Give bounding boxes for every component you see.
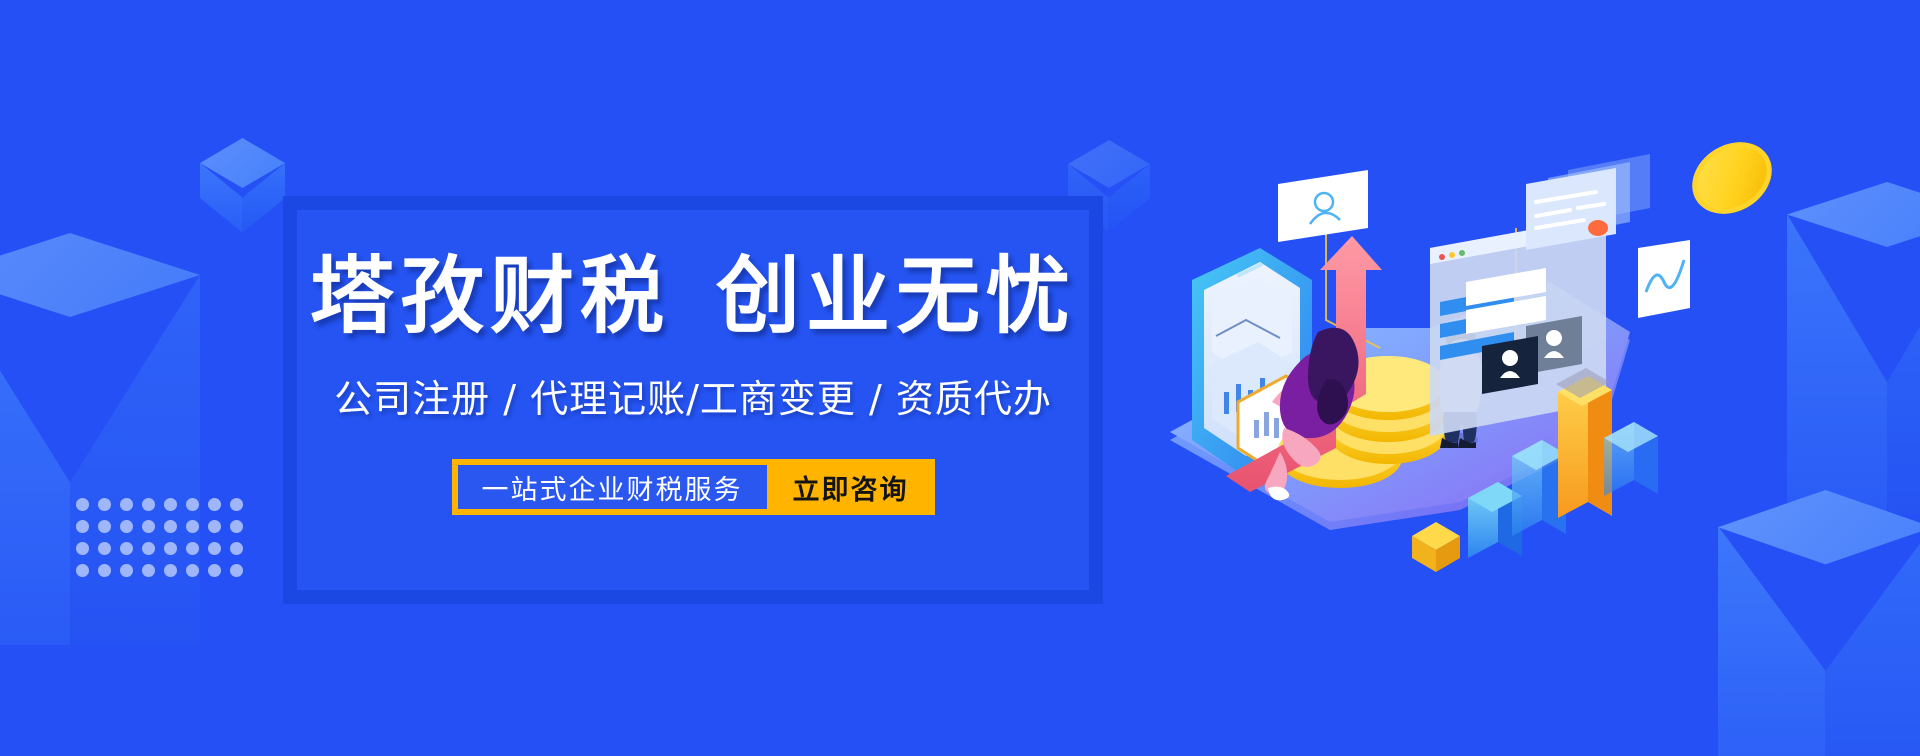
- dot: [98, 520, 111, 533]
- dot: [208, 542, 221, 555]
- dot-grid-decoration: [76, 498, 252, 586]
- dot: [164, 564, 177, 577]
- headline-frame-inner: 塔孜财税创业无忧 公司注册 / 代理记账/工商变更 / 资质代办 一站式企业财税…: [297, 210, 1089, 590]
- dot: [76, 520, 89, 533]
- gold-cube-decoration: [1412, 522, 1460, 572]
- prism-left-face: [1718, 526, 1826, 756]
- dot: [230, 542, 243, 555]
- dot: [120, 564, 133, 577]
- headline-part-1: 塔孜财税: [310, 247, 670, 345]
- dot: [164, 542, 177, 555]
- prism-right-face: [1887, 214, 1920, 514]
- dot: [142, 542, 155, 555]
- dot: [120, 498, 133, 511]
- dot: [76, 564, 89, 577]
- prism-right-face: [1825, 526, 1920, 756]
- dot: [142, 520, 155, 533]
- cube-top-face: [200, 138, 285, 188]
- headline-frame: 塔孜财税创业无忧 公司注册 / 代理记账/工商变更 / 资质代办 一站式企业财税…: [283, 196, 1103, 604]
- dot: [186, 498, 199, 511]
- promo-banner: 塔孜财税创业无忧 公司注册 / 代理记账/工商变更 / 资质代办 一站式企业财税…: [0, 0, 1920, 756]
- cube-right-face: [242, 163, 285, 233]
- dot: [98, 564, 111, 577]
- dot: [142, 564, 155, 577]
- dot: [98, 542, 111, 555]
- prism-left-face: [1787, 214, 1887, 514]
- prism-right-lower-decoration: [1718, 490, 1920, 756]
- cube-top-left-decoration: [200, 138, 285, 233]
- coin-face: [1679, 128, 1785, 228]
- headline-part-2: 创业无忧: [716, 247, 1076, 345]
- dot: [120, 520, 133, 533]
- dot: [120, 542, 133, 555]
- prism-top-face: [1718, 490, 1920, 614]
- prism-top-face: [0, 233, 200, 383]
- prism-left-decoration: [0, 233, 200, 653]
- prism-right-face: [70, 275, 200, 645]
- headline-content: 塔孜财税创业无忧 公司注册 / 代理记账/工商变更 / 资质代办 一站式企业财税…: [297, 210, 1089, 590]
- dot: [164, 520, 177, 533]
- dot: [186, 564, 199, 577]
- cta-bar[interactable]: 一站式企业财税服务 立即咨询: [452, 459, 935, 515]
- credit-card: [1526, 154, 1650, 250]
- line-chart-card: [1638, 240, 1690, 318]
- dot: [230, 564, 243, 577]
- subtitle: 公司注册 / 代理记账/工商变更 / 资质代办: [334, 368, 1052, 423]
- dot: [208, 564, 221, 577]
- dot: [76, 542, 89, 555]
- dot: [186, 520, 199, 533]
- prism-top-face: [1787, 182, 1920, 298]
- dot: [230, 520, 243, 533]
- cta-tagline: 一站式企业财税服务: [458, 465, 767, 509]
- business-finance-illustration: [1130, 140, 1690, 590]
- prism-right-upper-decoration: [1787, 182, 1920, 522]
- contact-card: [1278, 170, 1368, 242]
- dot: [142, 498, 155, 511]
- page-title: 塔孜财税创业无忧: [310, 252, 1076, 340]
- dot: [208, 520, 221, 533]
- prism-left-face: [0, 275, 70, 645]
- consult-button[interactable]: 立即咨询: [775, 459, 935, 515]
- cube-left-face: [200, 163, 243, 233]
- dot: [186, 542, 199, 555]
- dot: [230, 498, 243, 511]
- dot: [208, 498, 221, 511]
- gold-coin-icon: [1679, 128, 1785, 228]
- coin-rim: [1679, 128, 1785, 228]
- dot: [164, 498, 177, 511]
- dot: [76, 498, 89, 511]
- dot: [98, 498, 111, 511]
